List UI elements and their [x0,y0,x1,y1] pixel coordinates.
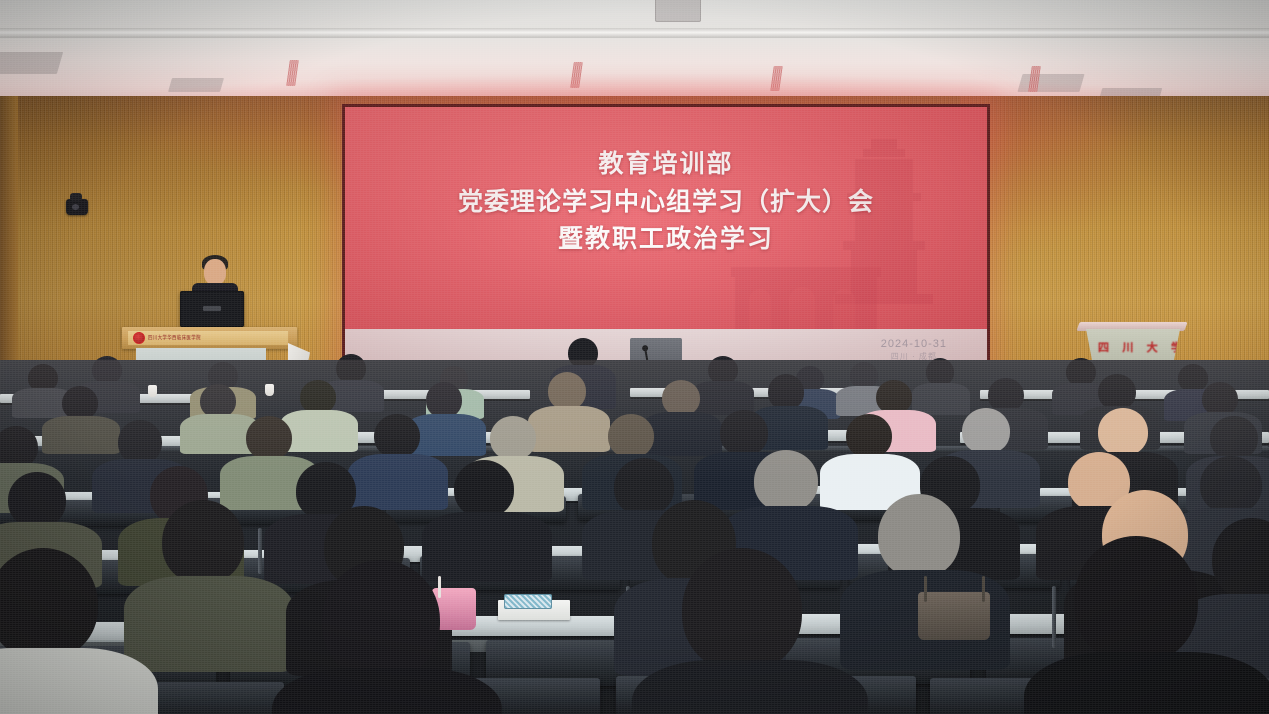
shoulder-bag [918,592,990,640]
person-head [682,548,802,672]
person-head [1202,382,1238,416]
person-head [568,338,598,368]
person-head [846,414,892,458]
slide-date-value: 2024-10-31 [881,337,947,352]
person-torso [632,660,868,714]
lectern-char-1: 四 [1098,339,1109,355]
ceiling-diffuser [655,0,701,22]
person-head [878,494,960,578]
slide-line-3: 暨教职工政治学习 [345,224,987,257]
person-head [454,460,514,518]
slide-line-1: 教育培训部 [345,149,987,182]
bag-strap [924,576,927,602]
lectern-institution-text: 四 川 大 学 [1098,339,1182,355]
person-head [62,386,98,420]
person-head [926,358,954,386]
school-seal-icon [133,332,145,344]
person-torso [422,512,552,582]
person-head [708,356,738,384]
person-head [336,354,366,383]
checkered-calculator [504,594,552,609]
person-head [426,382,462,418]
person-head [1074,536,1198,664]
ceiling [0,0,1269,100]
wall-red-reflection-right [960,96,1269,296]
person-torso [1024,652,1269,714]
person-head [988,378,1024,412]
water-cup [265,384,274,396]
person-torso [912,383,970,415]
person-head [1066,358,1096,386]
person-head [8,472,66,528]
person-head [1210,416,1258,460]
person-head [1098,374,1136,410]
person-head [614,458,674,516]
person-torso [42,416,120,454]
person-torso [528,406,610,452]
person-head [374,414,420,458]
podium-top: 四川大学华西临床医学院 [122,327,297,349]
person-head [720,410,768,456]
podium-display [180,291,244,327]
slide-text-block: 教育培训部 党委理论学习中心组学习（扩大）会 暨教职工政治学习 [345,149,987,257]
person-head [662,380,700,416]
person-head [490,416,536,460]
person-head [118,420,162,464]
lectern-face: 四 川 大 学 [1086,329,1180,363]
lectern-char-3: 大 [1147,339,1158,355]
bag-strap [438,576,441,598]
person-head [850,362,878,389]
conference-hall-photo: 教育培训部 党委理论学习中心组学习（扩大）会 暨教职工政治学习 2024-10-… [0,0,1269,714]
person-torso [280,410,358,452]
person-head [300,380,336,414]
lectern-char-2: 川 [1122,339,1133,355]
person-torso [272,668,502,714]
audience-area [0,360,1269,714]
podium-banner-text: 四川大学华西临床医学院 [148,334,201,342]
bag-strap [982,576,985,602]
person-head [322,560,440,680]
person-torso [642,412,722,456]
person-head [876,380,912,414]
person-head [768,374,804,410]
person-head [0,426,38,468]
person-head [162,500,244,584]
water-cup [148,385,157,397]
person-head [754,450,818,512]
ceiling-light-strip [0,28,1269,38]
presenter-head [204,259,226,285]
person-head [92,356,122,384]
person-head [608,414,654,458]
person-head [1178,364,1208,392]
person-torso [348,454,448,510]
person-head [200,384,236,418]
seat-leg [258,528,262,574]
person-head [548,372,586,410]
person-head [1098,408,1148,456]
slide-line-2: 党委理论学习中心组学习（扩大）会 [345,187,987,220]
lectern-char-4: 学 [1171,339,1182,355]
person-torso [124,576,294,672]
ptz-camera-icon [66,199,88,215]
seat-leg [1052,586,1056,648]
person-head [1200,456,1262,514]
person-head [246,416,292,460]
podium-banner: 四川大学华西临床医学院 [128,331,288,345]
person-head [962,408,1010,454]
